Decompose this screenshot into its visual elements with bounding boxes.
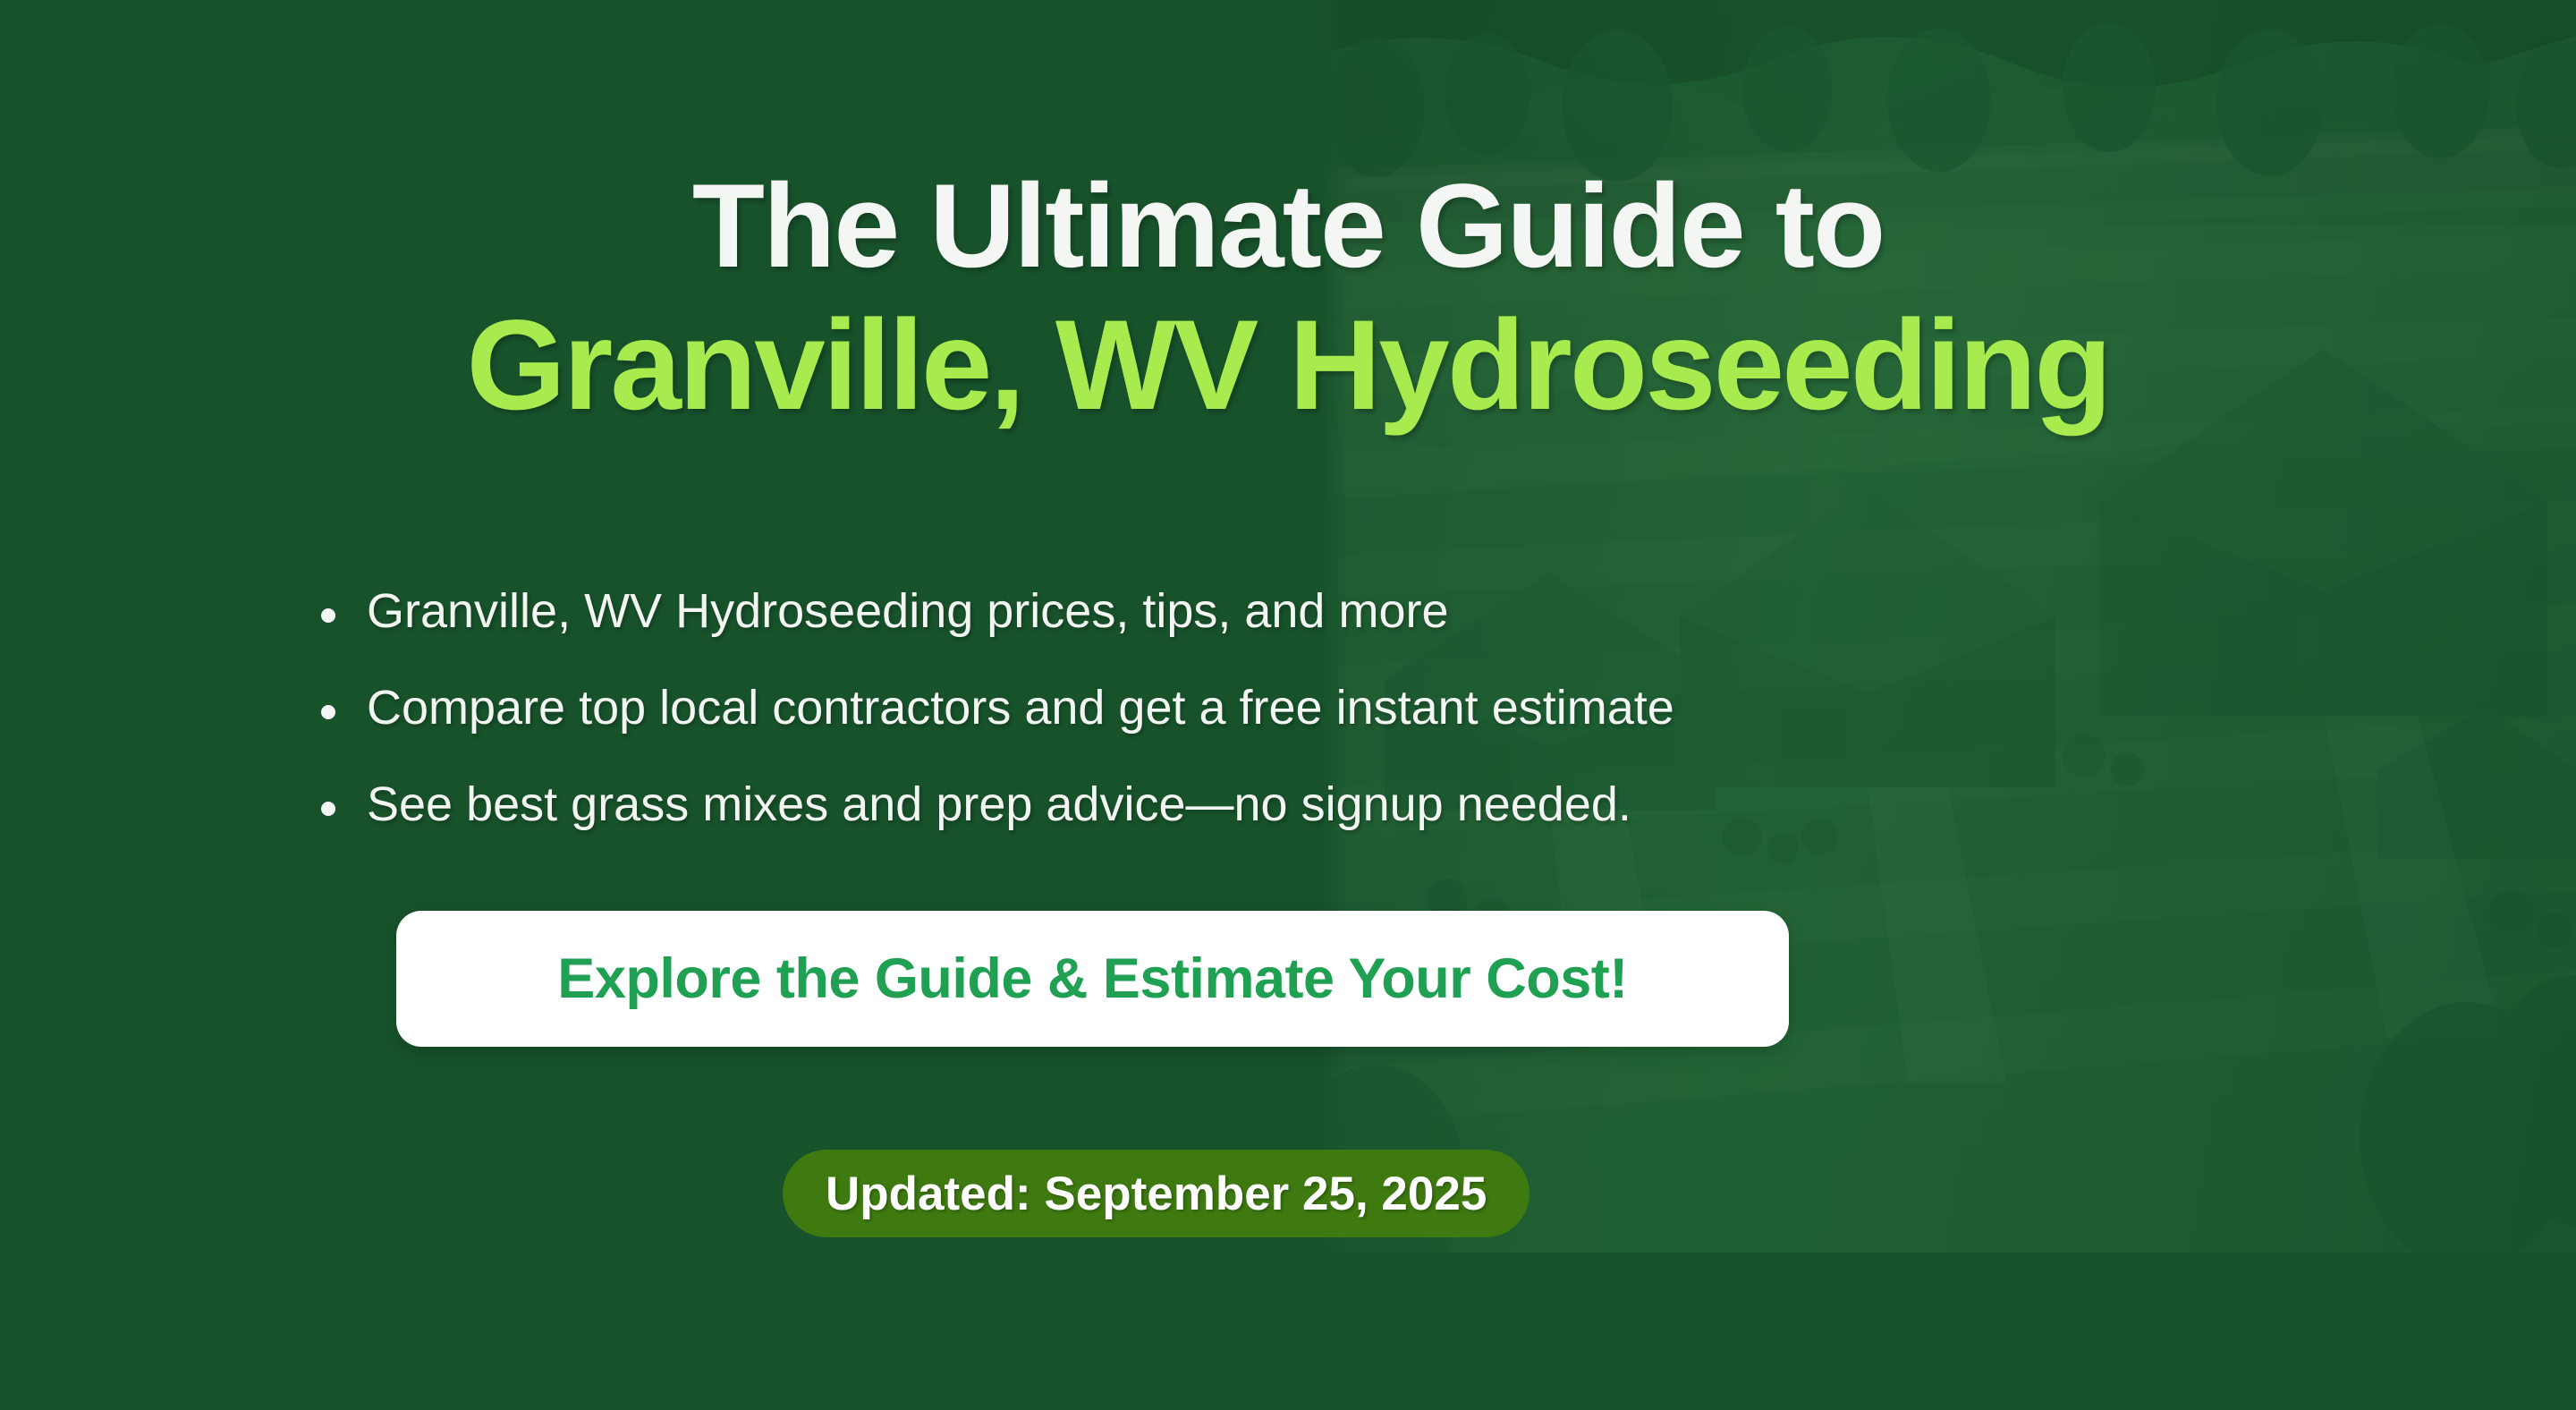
hero-content: The Ultimate Guide to Granville, WV Hydr… (0, 0, 2576, 1410)
list-item: Granville, WV Hydroseeding prices, tips,… (318, 586, 2267, 637)
headline-line-primary: The Ultimate Guide to (0, 159, 2576, 293)
page-title: The Ultimate Guide to Granville, WV Hydr… (0, 159, 2576, 438)
explore-guide-cta-button[interactable]: Explore the Guide & Estimate Your Cost! (396, 911, 1789, 1047)
benefits-list: Granville, WV Hydroseeding prices, tips,… (318, 586, 2267, 877)
updated-date-badge: Updated: September 25, 2025 (783, 1150, 1529, 1237)
list-item: Compare top local contractors and get a … (318, 683, 2267, 734)
list-item: See best grass mixes and prep advice—no … (318, 779, 2267, 830)
hero-banner: The Ultimate Guide to Granville, WV Hydr… (0, 0, 2576, 1410)
headline-line-location: Granville, WV Hydroseeding (0, 293, 2576, 438)
